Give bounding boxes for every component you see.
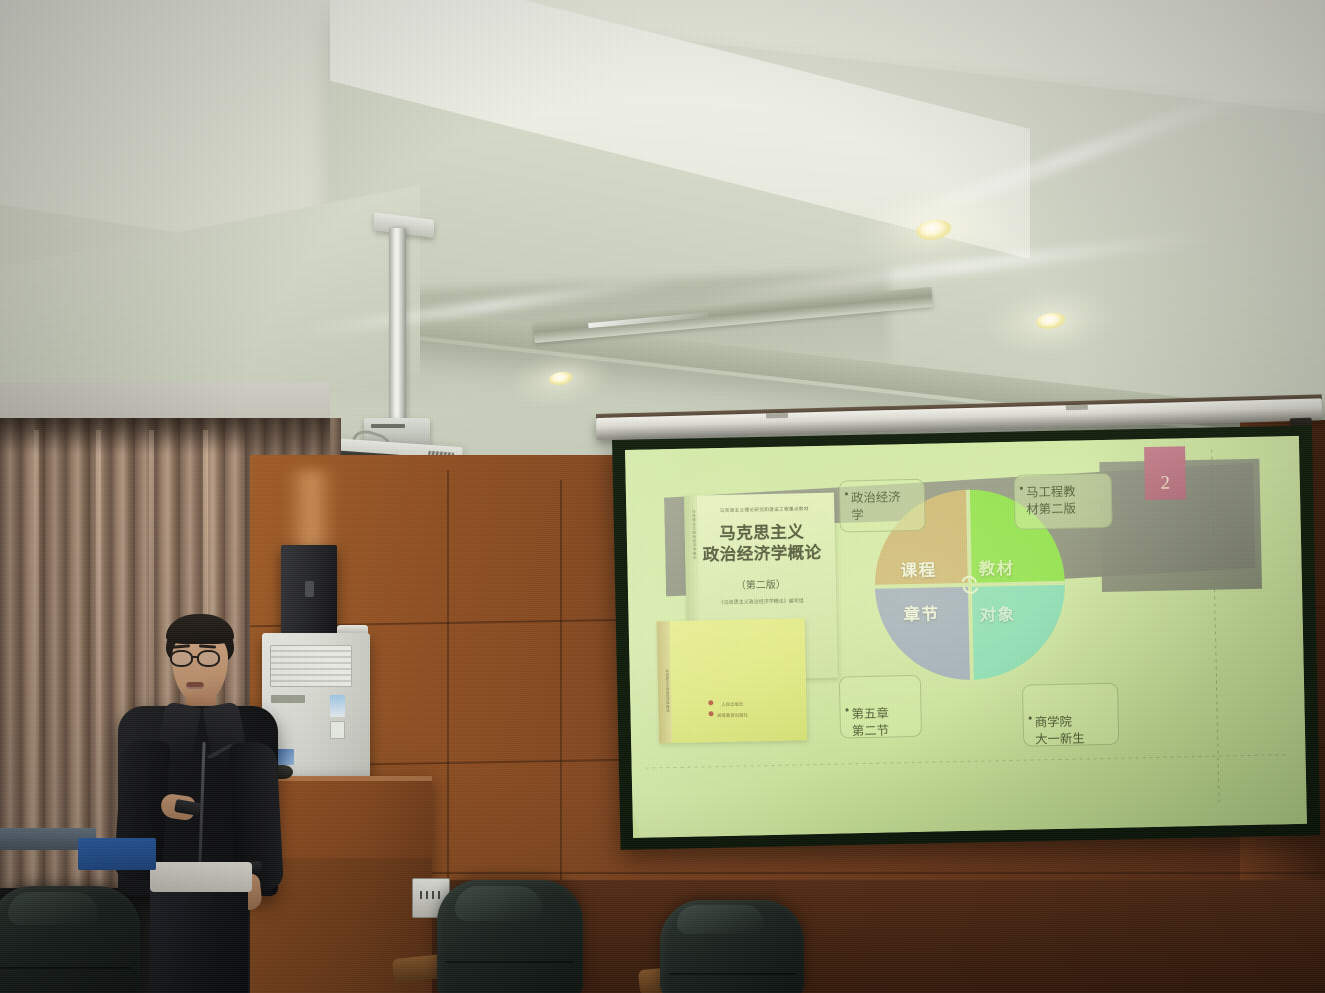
eyeglasses-icon bbox=[197, 650, 220, 667]
presentation-slide: 2 马克思主义政治经济学概论 马克思主义理论研究和建设工程重点教材 马克思主义 … bbox=[625, 436, 1307, 838]
ac-grille bbox=[270, 645, 352, 687]
callout-audience-line1: 商学院 bbox=[1035, 713, 1109, 731]
book-publisher-2: 高等教育出版社 bbox=[659, 711, 807, 720]
book-second-image: 马克思主义政治经济学概论 人民出版社 高等教育出版社 bbox=[657, 618, 808, 743]
presenter-shirt-hem bbox=[150, 862, 252, 892]
ac-brand-label bbox=[271, 695, 305, 703]
callout-textbook: 马工程教 材第二版 bbox=[1014, 473, 1113, 530]
callout-course-line1: 政治经济 bbox=[851, 489, 915, 507]
wheel-label-textbook: 教材 bbox=[978, 555, 1014, 580]
lecture-hall-photo: 2 马克思主义政治经济学概论 马克思主义理论研究和建设工程重点教材 马克思主义 … bbox=[0, 0, 1325, 993]
ac-sticker bbox=[330, 721, 345, 739]
wheel-label-chapter: 章节 bbox=[903, 600, 939, 625]
slide-page-badge: 2 bbox=[1144, 446, 1186, 500]
slide-page-number: 2 bbox=[1145, 472, 1186, 495]
book-series-line: 马克思主义理论研究和建设工程重点教材 bbox=[702, 506, 826, 515]
projection-screen: 2 马克思主义政治经济学概论 马克思主义理论研究和建设工程重点教材 马克思主义 … bbox=[625, 436, 1307, 838]
wood-seam bbox=[447, 470, 449, 890]
eyeglasses-icon bbox=[170, 650, 193, 667]
wood-seam bbox=[560, 480, 562, 890]
curtain-fold bbox=[96, 430, 101, 880]
chair-center bbox=[437, 880, 583, 993]
callout-chapter-line2: 第二节 bbox=[852, 722, 912, 740]
projector-mount-pole bbox=[389, 228, 406, 423]
callout-audience: 商学院 大一新生 bbox=[1022, 683, 1119, 747]
book-second-spine: 马克思主义政治经济学概论 bbox=[657, 621, 673, 743]
slide-dotted-divider-horizontal bbox=[646, 754, 1286, 768]
presenter-mouth bbox=[186, 682, 204, 689]
book-title-line2: 政治经济学概论 bbox=[695, 542, 829, 566]
curtain-top-shadow bbox=[0, 418, 330, 454]
callout-course-line2: 学 bbox=[851, 505, 915, 523]
loudspeaker bbox=[281, 545, 337, 637]
refresh-cycle-icon bbox=[958, 572, 983, 598]
wheel-segment-audience bbox=[970, 583, 1067, 680]
book-title-line1: 马克思主义 bbox=[695, 521, 829, 545]
chair-right bbox=[660, 900, 804, 993]
wheel-segment-chapter bbox=[875, 585, 972, 682]
callout-textbook-line2: 材第二版 bbox=[1026, 500, 1102, 518]
callout-chapter: 第五章 第二节 bbox=[839, 675, 922, 739]
ac-energy-label bbox=[330, 695, 345, 717]
book-publisher-1: 人民出版社 bbox=[658, 700, 806, 709]
book-author-line: 《马克思主义政治经济学概论》编写组 bbox=[686, 597, 836, 607]
blue-equipment-case bbox=[78, 838, 156, 870]
eyeglasses-bridge bbox=[192, 656, 198, 658]
callout-course: 政治经济 学 bbox=[839, 479, 926, 533]
chair-left bbox=[0, 886, 140, 993]
book-title: 马克思主义 政治经济学概论 bbox=[695, 521, 830, 566]
book-edition: （第二版） bbox=[686, 575, 836, 593]
callout-textbook-line1: 马工程教 bbox=[1026, 483, 1102, 501]
curtain-fold bbox=[34, 430, 39, 880]
callout-audience-line2: 大一新生 bbox=[1035, 729, 1109, 747]
presenter-pants bbox=[150, 884, 248, 993]
wheel-label-audience: 对象 bbox=[979, 601, 1015, 626]
wheel-label-course: 课程 bbox=[900, 557, 936, 582]
callout-chapter-line1: 第五章 bbox=[851, 705, 911, 723]
